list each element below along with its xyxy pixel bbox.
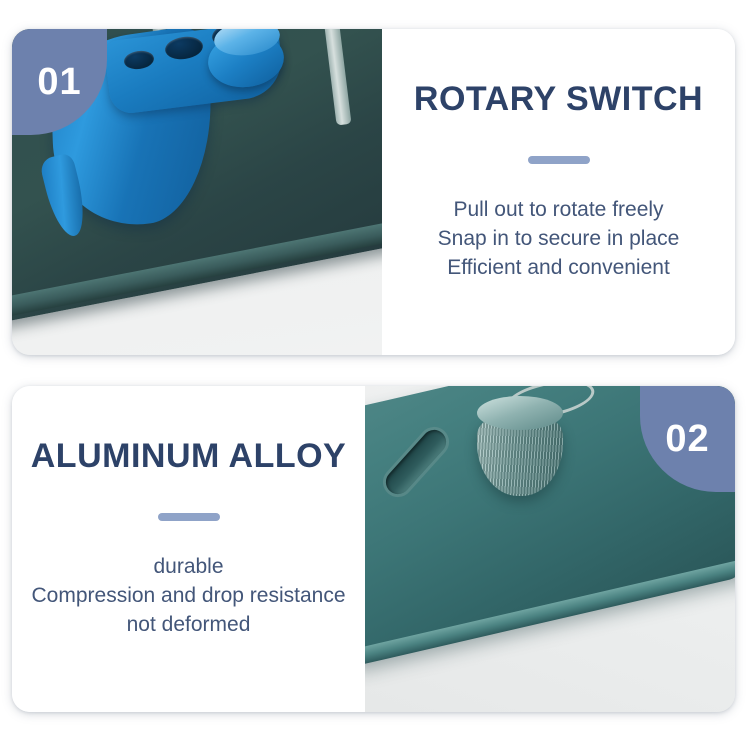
heading-divider-rule [528,156,590,164]
feature-heading: ALUMINUM ALLOY [31,438,346,475]
knurled-knob-cap [477,396,563,430]
product-photo-aluminum-alloy: 02 [365,386,735,712]
feature-card-rotary-switch: 01 ROTARY SWITCH Pull out to rotate free… [12,29,735,355]
feature-number-label: 02 [665,418,709,461]
feature-description: Pull out to rotate freely Snap in to sec… [438,196,680,283]
feature-description-line: Efficient and convenient [438,254,680,283]
product-feature-page: 01 ROTARY SWITCH Pull out to rotate free… [0,0,750,750]
heading-divider-rule [158,513,220,521]
feature-description-line: Compression and drop resistance [32,582,346,611]
product-photo-rotary-switch: 01 [12,29,382,355]
feature-description-line: durable [32,553,346,582]
feature-text-pane-aluminum-alloy: ALUMINUM ALLOY durable Compression and d… [12,386,365,712]
feature-heading: ROTARY SWITCH [414,81,703,118]
feature-card-aluminum-alloy: 02 ALUMINUM ALLOY durable Compression an… [12,386,735,712]
feature-description-line: not deformed [32,611,346,640]
feature-description-line: Snap in to secure in place [438,225,680,254]
feature-text-pane-rotary-switch: ROTARY SWITCH Pull out to rotate freely … [382,29,735,355]
feature-number-label: 01 [37,61,81,104]
feature-description-line: Pull out to rotate freely [438,196,680,225]
feature-description: durable Compression and drop resistance … [32,553,346,640]
